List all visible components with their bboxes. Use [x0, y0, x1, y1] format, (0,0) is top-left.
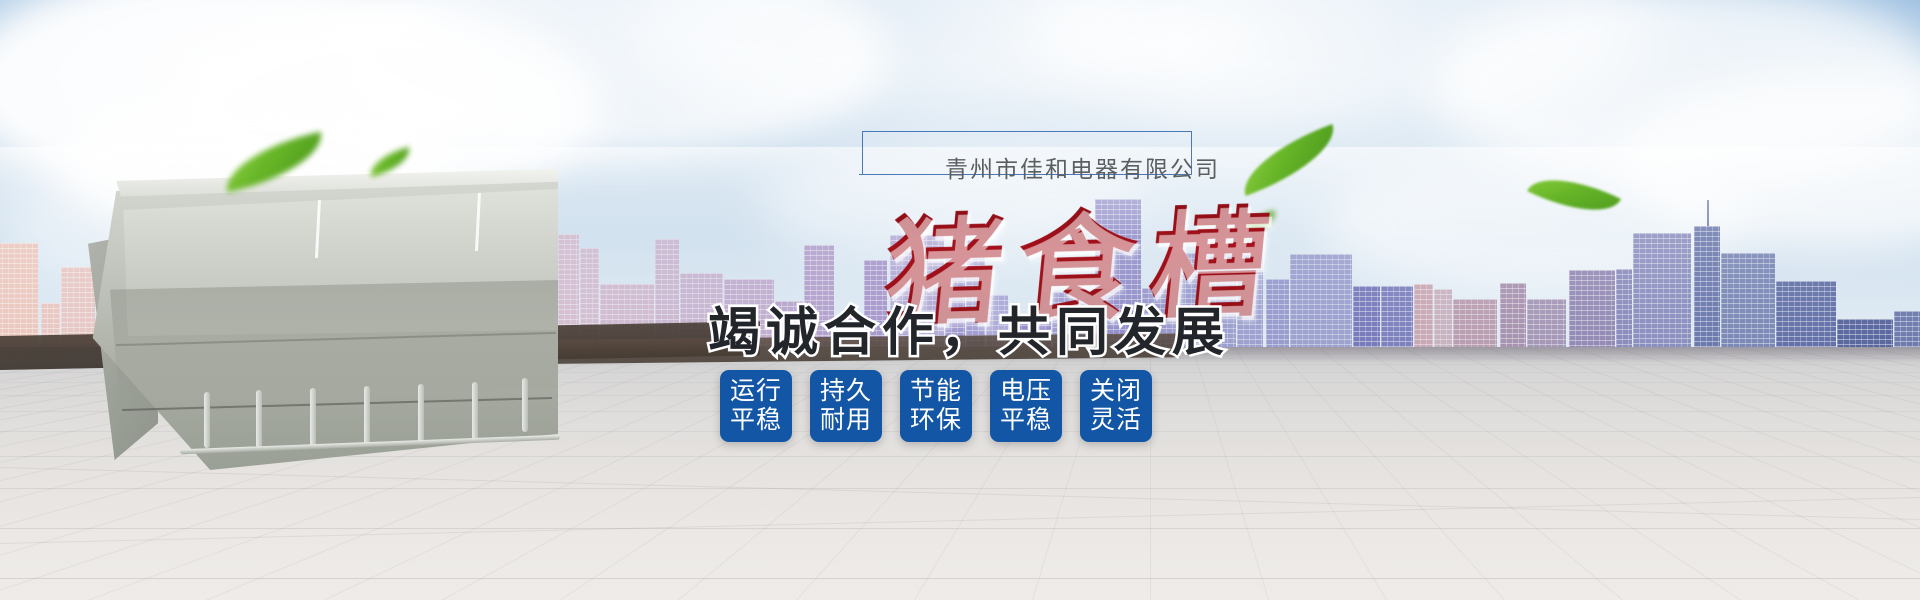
pavement-line [1150, 347, 1920, 600]
trough-divider-bar [364, 386, 370, 446]
pavement-line [1150, 347, 1920, 600]
pavement-line [1150, 347, 1920, 600]
building-windows [1434, 289, 1452, 347]
pavement-line [1150, 347, 1741, 600]
pavement-line [1150, 347, 1920, 600]
pavement-line [1150, 347, 1920, 600]
building-windows [1721, 253, 1775, 347]
badge-line-2: 平稳 [1000, 406, 1052, 436]
feature-badge[interactable]: 节能环保 [900, 370, 972, 442]
feature-badge[interactable]: 运行平稳 [720, 370, 792, 442]
feature-badge[interactable]: 电压平稳 [990, 370, 1062, 442]
trough-divider-bar [522, 378, 528, 432]
badge-line-1: 运行 [730, 377, 782, 407]
building-windows [1894, 311, 1920, 347]
pavement-line [1150, 347, 1920, 600]
building-shape [1633, 233, 1691, 347]
pavement-line [1150, 347, 1920, 600]
badge-line-1: 节能 [910, 377, 962, 407]
subtitle-slogan: 竭诚合作，共同发展 [708, 290, 1230, 365]
building-shape [1527, 299, 1566, 347]
pavement-line [1150, 347, 1920, 600]
trough-divider-bar [310, 388, 316, 448]
pavement-line [1150, 347, 1920, 600]
building-shape [1381, 286, 1413, 347]
pavement-line [1150, 347, 1920, 600]
building-windows [1616, 269, 1632, 347]
badge-line-2: 灵活 [1090, 406, 1142, 436]
pavement-line [1150, 347, 1920, 600]
badge-line-2: 平稳 [730, 406, 782, 436]
building-shape [1721, 253, 1775, 347]
building-windows [1290, 254, 1352, 347]
pavement-line [1150, 347, 1920, 600]
feature-badge[interactable]: 关闭灵活 [1080, 370, 1152, 442]
building-shape [1694, 226, 1720, 347]
pavement-line [1150, 347, 1920, 600]
pavement-line [1150, 347, 1920, 600]
building-windows [1453, 299, 1497, 347]
building-windows [1633, 233, 1691, 347]
building-spire [1707, 200, 1709, 226]
frame-accent-line [859, 174, 925, 175]
building-shape [1353, 286, 1380, 347]
building-windows [1414, 284, 1433, 347]
building-shape [1500, 283, 1526, 347]
building-shape [1616, 269, 1632, 347]
promotional-banner: 青州市佳和电器有限公司 猪食槽 竭诚合作，共同发展 运行平稳持久耐用节能环保电压… [0, 0, 1920, 600]
building-windows [1500, 283, 1526, 347]
building-windows [1569, 270, 1615, 347]
building-windows [1694, 226, 1720, 347]
building-windows [1776, 281, 1836, 347]
trough-divider-bar [472, 382, 478, 440]
product-image-feeding-trough [70, 160, 590, 470]
building-shape [0, 243, 38, 347]
building-shape [1569, 270, 1615, 347]
feature-badge[interactable]: 持久耐用 [810, 370, 882, 442]
building-shape [1453, 299, 1497, 347]
pavement-line [1150, 347, 1920, 600]
pavement-line [1150, 347, 1920, 600]
trough-divider-bar [256, 390, 262, 448]
pavement-line [0, 578, 1920, 579]
building-shape [1434, 289, 1452, 347]
pavement-line [1150, 347, 1387, 600]
trough-divider-bar [418, 384, 424, 444]
badge-line-1: 电压 [1000, 377, 1052, 407]
pavement-line [1150, 347, 1920, 600]
building-windows [1353, 286, 1380, 347]
badge-line-1: 关闭 [1090, 377, 1142, 407]
feature-badge-list: 运行平稳持久耐用节能环保电压平稳关闭灵活 [720, 370, 1152, 442]
badge-line-2: 环保 [910, 406, 962, 436]
building-shape [1837, 319, 1893, 347]
pavement-line [1150, 347, 1920, 600]
pavement-line [0, 488, 1920, 489]
building-windows [1837, 319, 1893, 347]
pavement-line [1150, 347, 1269, 600]
pavement-line [1150, 347, 1920, 600]
building-windows [1527, 299, 1566, 347]
pavement-joint [0, 497, 1920, 544]
building-windows [0, 243, 38, 347]
trough-divider-bar [204, 392, 210, 448]
building-shape [1776, 281, 1836, 347]
building-windows [1381, 286, 1413, 347]
building-shape [1290, 254, 1352, 347]
badge-line-1: 持久 [820, 377, 872, 407]
building-shape [1414, 284, 1433, 347]
pavement-line [1150, 347, 1920, 600]
building-shape [1894, 311, 1920, 347]
badge-line-2: 耐用 [820, 406, 872, 436]
